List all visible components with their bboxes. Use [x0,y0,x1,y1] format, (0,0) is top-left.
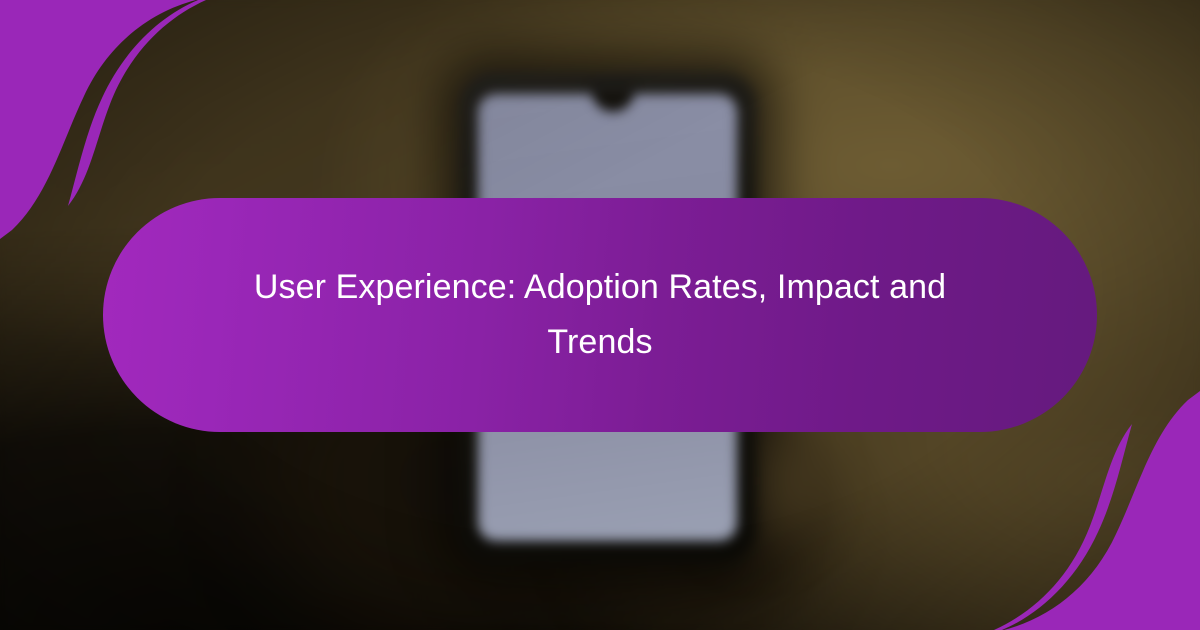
title-card: User Experience: Adoption Rates, Impact … [103,198,1097,432]
social-share-banner: User Experience: Adoption Rates, Impact … [0,0,1200,630]
page-title: User Experience: Adoption Rates, Impact … [233,260,967,370]
